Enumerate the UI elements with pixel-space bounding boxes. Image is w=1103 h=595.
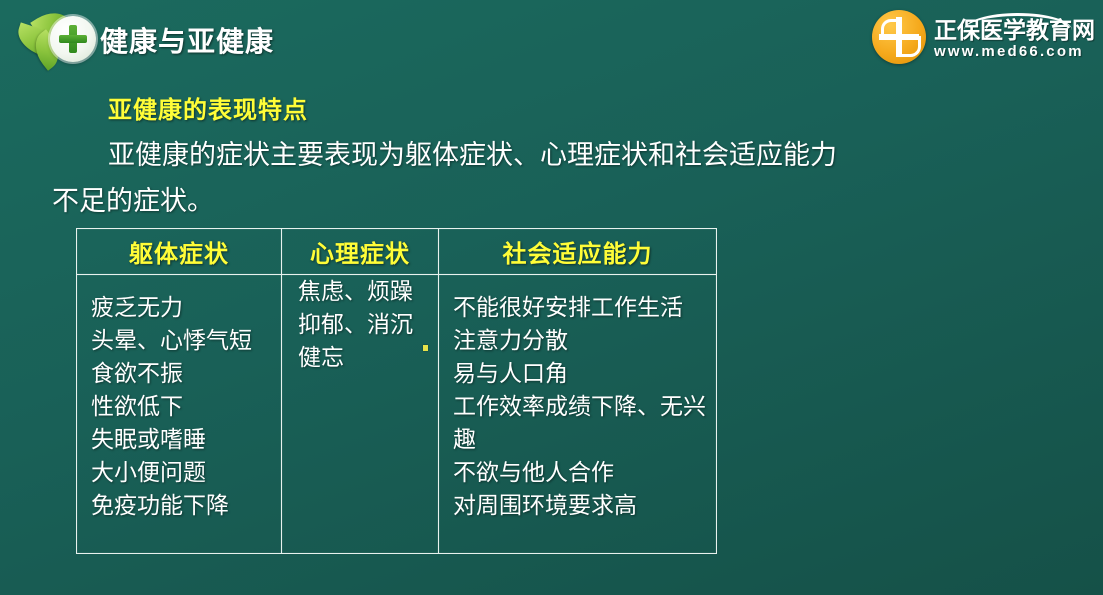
list-item: 食欲不振 [91,357,275,390]
medical-cross-icon [50,16,96,62]
table-cell-psychological: 焦虑、烦躁 抑郁、消沉 健忘 [282,275,439,554]
table-header-cell-psychological: 心理症状 [282,229,439,275]
symptom-list-somatic: 疲乏无力 头晕、心悸气短 食欲不振 性欲低下 失眠或嗜睡 大小便问题 免疫功能下… [77,275,281,532]
list-item: 易与人口角 [453,357,710,390]
table-body-row: 疲乏无力 头晕、心悸气短 食欲不振 性欲低下 失眠或嗜睡 大小便问题 免疫功能下… [77,275,717,554]
table-header-cell-somatic: 躯体症状 [77,229,282,275]
table-header-cell-social: 社会适应能力 [439,229,717,275]
table-cell-somatic: 疲乏无力 头晕、心悸气短 食欲不振 性欲低下 失眠或嗜睡 大小便问题 免疫功能下… [77,275,282,554]
list-item: 大小便问题 [91,456,275,489]
list-item: 不欲与他人合作 [453,456,710,489]
mouse-cursor-artifact [423,345,428,351]
brand-url: www.med66.com [934,43,1095,61]
list-item: 焦虑、烦躁 [298,275,432,308]
brand-arc-lower-right [900,36,921,57]
leaf-medical-cross-icon [14,6,100,68]
list-item: 工作效率成绩下降、无兴趣 [453,390,710,456]
brand-arc-upper-left [881,19,901,39]
column-header-label: 心理症状 [282,234,438,269]
symptom-list-social: 不能很好安排工作生活 注意力分散 易与人口角 工作效率成绩下降、无兴趣 不欲与他… [439,275,716,532]
slide-header: 健康与亚健康 正保医学教育网 www.med66.com [0,0,1103,72]
table-cell-social: 不能很好安排工作生活 注意力分散 易与人口角 工作效率成绩下降、无兴趣 不欲与他… [439,275,717,554]
list-item: 疲乏无力 [91,291,275,324]
list-item: 不能很好安排工作生活 [453,291,710,324]
column-header-label: 躯体症状 [77,234,281,269]
list-item: 性欲低下 [91,390,275,423]
brand-mark-icon [872,10,926,64]
brand-text-block: 正保医学教育网 www.med66.com [934,14,1095,61]
list-item: 抑郁、消沉 [298,308,432,341]
list-item: 免疫功能下降 [91,489,275,522]
symptom-table: 躯体症状 心理症状 社会适应能力 疲乏无力 头晕、心悸气短 食欲不振 性欲低下 … [76,228,717,554]
table-header-row: 躯体症状 心理症状 社会适应能力 [77,229,717,275]
body-paragraph: 亚健康的症状主要表现为躯体症状、心理症状和社会适应能力不足的症状。 [52,132,852,224]
list-item: 对周围环境要求高 [453,489,710,522]
page-title: 健康与亚健康 [100,20,274,60]
brand-swoosh-icon [964,13,1072,30]
list-item: 头晕、心悸气短 [91,324,275,357]
brand-logo: 正保医学教育网 www.med66.com [872,6,1095,68]
symptom-list-psychological: 焦虑、烦躁 抑郁、消沉 健忘 [282,275,438,374]
list-item: 注意力分散 [453,324,710,357]
column-header-label: 社会适应能力 [439,234,716,269]
list-item: 失眠或嗜睡 [91,423,275,456]
slide-canvas: 健康与亚健康 正保医学教育网 www.med66.com 亚健康的表现特点 亚健… [0,0,1103,595]
section-subtitle: 亚健康的表现特点 [108,90,308,125]
list-item: 健忘 [298,341,432,374]
